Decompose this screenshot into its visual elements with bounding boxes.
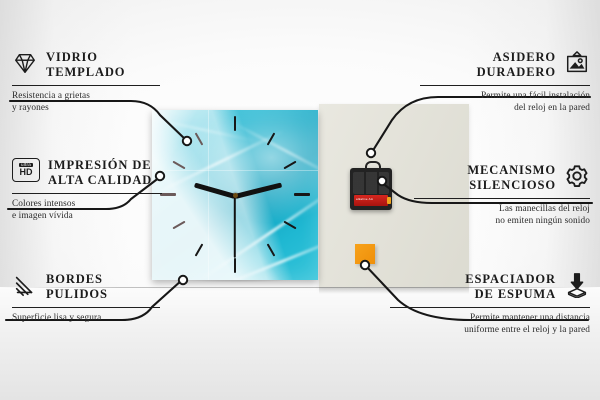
connector-dot-espaciador (361, 261, 369, 269)
feature-divider (12, 193, 162, 194)
connector-dot-bordes-pulidos (179, 276, 187, 284)
feature-subtitle-line1: Resistencia a grietas (12, 90, 162, 102)
feature-title-line1: BORDES (46, 272, 108, 287)
gear-icon (564, 163, 590, 189)
feature-divider (420, 85, 590, 86)
feature-subtitle-line2: e imagen vívida (12, 210, 164, 222)
ultra-hd-icon: ultra HD (12, 158, 40, 182)
picture-hanger-icon (564, 50, 590, 76)
feature-divider (390, 307, 590, 308)
foam-spacer-icon (564, 272, 590, 298)
feature-impresion-alta-calidad: ultra HD IMPRESIÓN DE ALTA CALIDAD Color… (12, 158, 164, 222)
feature-title-line2: PULIDOS (46, 287, 108, 302)
ultra-hd-label: HD (20, 168, 33, 177)
feature-espaciador-de-espuma: ESPACIADOR DE ESPUMA Permite mantener un… (390, 272, 590, 336)
feature-subtitle-line1: Permite mantener una distancia (390, 312, 590, 324)
feature-bordes-pulidos: BORDES PULIDOS Superficie lisa y segura (12, 272, 162, 324)
feature-divider (414, 198, 590, 199)
feature-mecanismo-silencioso: MECANISMO SILENCIOSO Las manecillas del … (414, 163, 590, 227)
feature-title-line2: DE ESPUMA (390, 287, 556, 302)
feature-subtitle-line2: y rayones (12, 102, 162, 114)
connector-dot-vidrio-templado (183, 137, 191, 145)
feature-title-line1: MECANISMO (467, 163, 556, 178)
feature-subtitle-line1: Colores intensos (12, 198, 164, 210)
feature-title-line2: TEMPLADO (46, 65, 125, 80)
feature-subtitle-line1: Superficie lisa y segura (12, 312, 162, 324)
infographic-canvas: alkaline AA (0, 0, 600, 400)
feature-title-line1: IMPRESIÓN DE (48, 158, 152, 173)
feature-subtitle-line2: uniforme entre el reloj y la pared (390, 324, 590, 336)
feature-divider (12, 307, 160, 308)
feature-title-line1: ASIDERO (477, 50, 556, 65)
feature-title-line2: DURADERO (477, 65, 556, 80)
feature-divider (12, 85, 160, 86)
connector-dot-asidero (367, 149, 375, 157)
feature-subtitle-line2: no emiten ningún sonido (414, 215, 590, 227)
connector-dot-mecanismo (378, 177, 386, 185)
feature-title-line2: ALTA CALIDAD (48, 173, 152, 188)
feature-subtitle-line1: Las manecillas del reloj (414, 203, 590, 215)
polished-edges-icon (12, 272, 38, 298)
feature-asidero-duradero: ASIDERO DURADERO Permite una fácil insta… (420, 50, 590, 114)
feature-vidrio-templado: VIDRIO TEMPLADO Resistencia a grietas y … (12, 50, 162, 114)
feature-subtitle-line1: Permite una fácil instalación (420, 90, 590, 102)
feature-title-line2: SILENCIOSO (467, 178, 556, 193)
feature-title-line1: ESPACIADOR (390, 272, 556, 287)
feature-subtitle-line2: del reloj en la pared (420, 102, 590, 114)
feature-title-line1: VIDRIO (46, 50, 125, 65)
diamond-icon (12, 50, 38, 76)
